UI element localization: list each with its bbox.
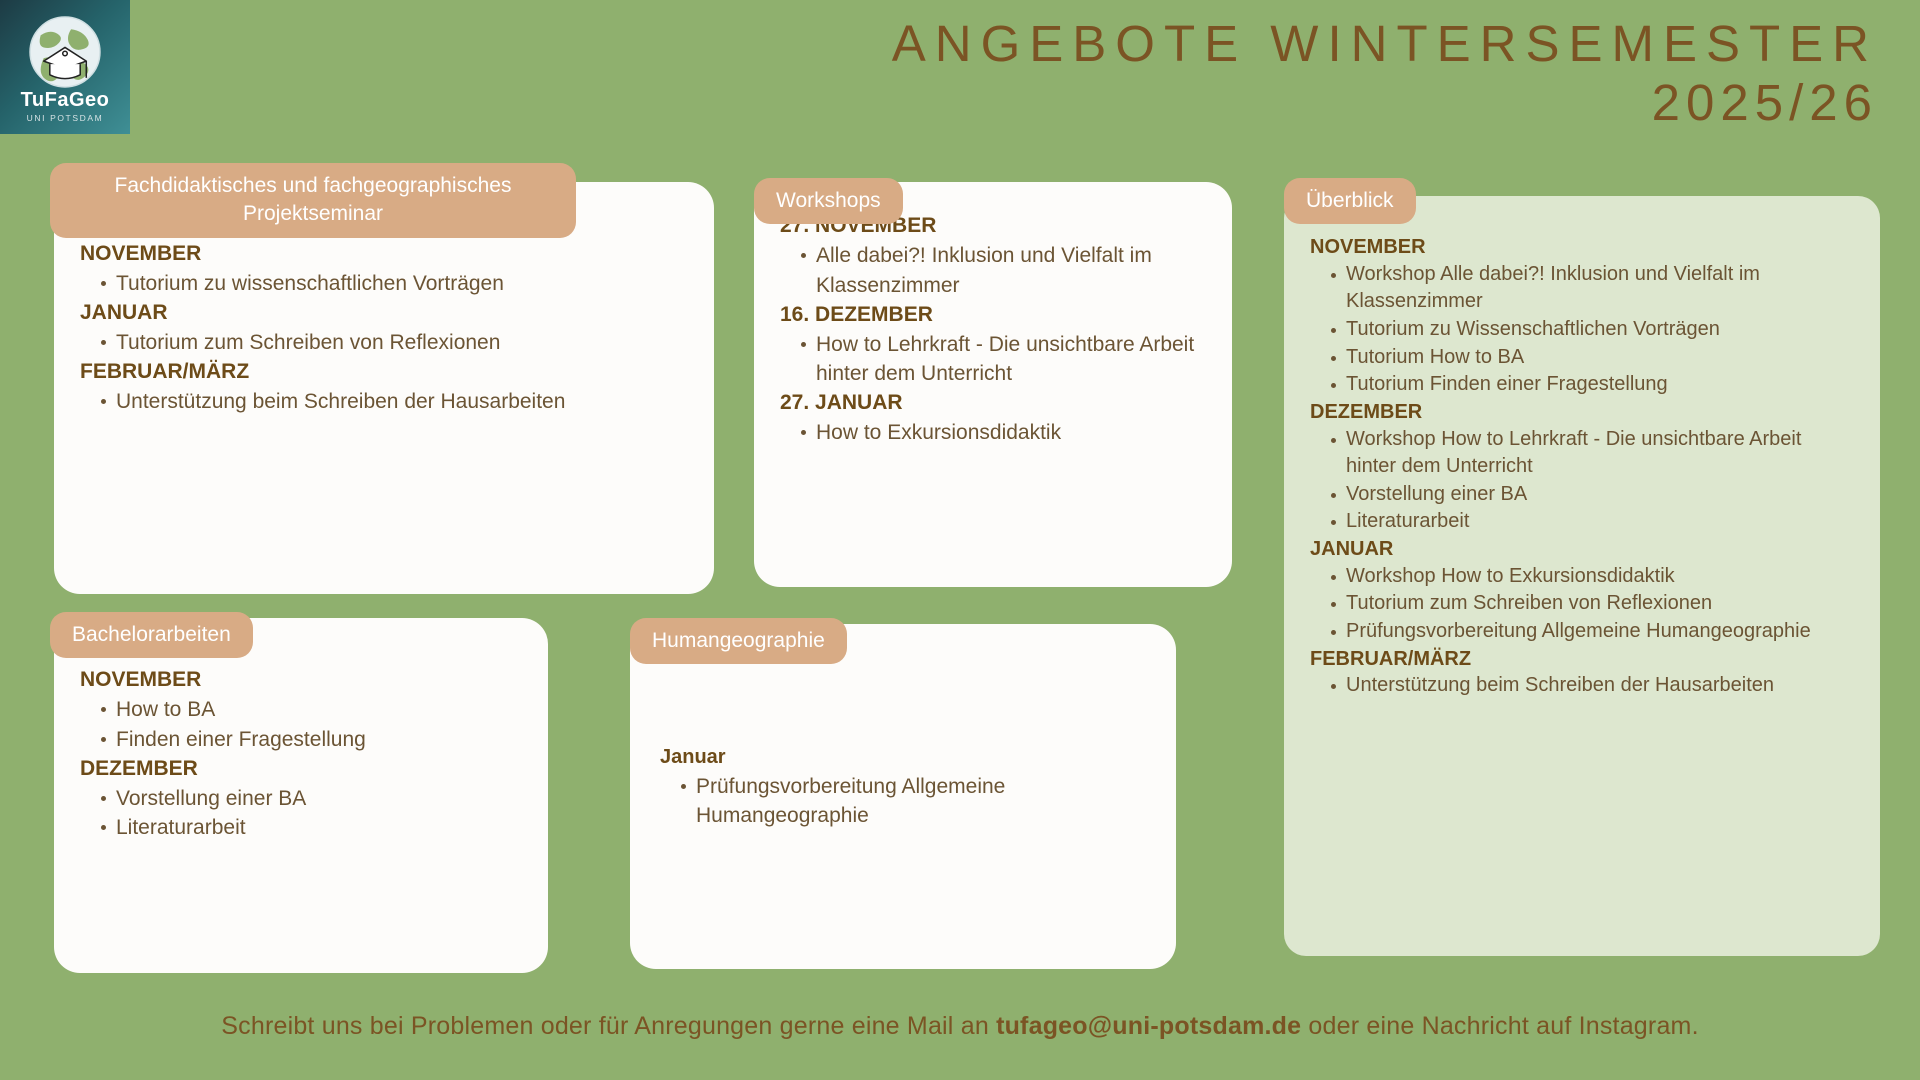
list-item: Vorstellung einer BA [80,784,522,814]
card-tag-bachelorarbeiten: Bachelorarbeiten [50,612,253,658]
month-heading: NOVEMBER [1310,234,1854,261]
month-heading: Januar [660,744,1146,772]
list-item: Tutorium zu Wissenschaftlichen Vorträgen [1310,316,1854,344]
card-humangeographie-body: JanuarPrüfungsvorbereitung Allgemeine Hu… [630,744,1176,831]
list-item: Vorstellung einer BA [1310,481,1854,509]
offer-list: Workshop Alle dabei?! Inklusion und Viel… [1310,261,1854,399]
card-workshops-body: 27. NOVEMBERAlle dabei?! Inklusion und V… [754,212,1232,448]
card-bachelorarbeiten: NOVEMBERHow to BAFinden einer Fragestell… [54,618,548,973]
card-tag-humangeographie: Humangeographie [630,618,847,664]
card-bachelorarbeiten-body: NOVEMBERHow to BAFinden einer Fragestell… [54,666,548,843]
footer-email: tufageo@uni-potsdam.de [996,1012,1301,1040]
list-item: Tutorium How to BA [1310,344,1854,372]
offer-list: Workshop How to Lehrkraft - Die unsichtb… [1310,426,1854,536]
list-item: Literaturarbeit [1310,508,1854,536]
card-tag-projektseminar: Fachdidaktisches und fachgeographisches … [50,163,576,238]
logo-subtitle-text: UNI POTSDAM [0,114,130,123]
logo-brand-text: TuFaGeo [0,90,130,110]
card-ueberblick-body: NOVEMBERWorkshop Alle dabei?! Inklusion … [1284,234,1880,700]
card-projektseminar: NOVEMBERTutorium zu wissenschaftlichen V… [54,182,714,594]
month-heading: JANUAR [1310,536,1854,563]
offer-list: Unterstützung beim Schreiben der Hausarb… [1310,672,1854,700]
footer-contact-note: Schreibt uns bei Problemen oder für Anre… [0,1012,1920,1041]
card-projektseminar-body: NOVEMBERTutorium zu wissenschaftlichen V… [54,240,714,416]
list-item: Tutorium zum Schreiben von Reflexionen [80,328,688,358]
list-item: Workshop How to Exkursionsdidaktik [1310,563,1854,591]
offer-list: How to Exkursionsdidaktik [780,418,1206,448]
month-heading: 16. DEZEMBER [780,301,1206,330]
month-heading: DEZEMBER [80,755,522,784]
offer-list: Workshop How to ExkursionsdidaktikTutori… [1310,563,1854,646]
list-item: Tutorium Finden einer Fragestellung [1310,371,1854,399]
list-item: Prüfungsvorbereitung Allgemeine Humangeo… [660,772,1146,832]
offer-list: Tutorium zum Schreiben von Reflexionen [80,328,688,358]
month-heading: DEZEMBER [1310,399,1854,426]
offer-list: Vorstellung einer BALiteraturarbeit [80,784,522,844]
offer-list: Unterstützung beim Schreiben der Hausarb… [80,387,688,417]
card-humangeographie: JanuarPrüfungsvorbereitung Allgemeine Hu… [630,624,1176,969]
footer-text-before: Schreibt uns bei Problemen oder für Anre… [221,1012,996,1040]
list-item: Literaturarbeit [80,813,522,843]
card-tag-ueberblick: Überblick [1284,178,1416,224]
list-item: Finden einer Fragestellung [80,725,522,755]
list-item: How to Exkursionsdidaktik [780,418,1206,448]
globe-graduation-cap-icon [27,14,103,90]
list-item: How to Lehrkraft - Die unsichtbare Arbei… [780,330,1206,390]
month-heading: JANUAR [80,299,688,328]
card-workshops: 27. NOVEMBERAlle dabei?! Inklusion und V… [754,182,1232,587]
footer-text-after: oder eine Nachricht auf Instagram. [1301,1012,1698,1040]
month-heading: FEBRUAR/MÄRZ [1310,646,1854,673]
tufageo-logo: TuFaGeo UNI POTSDAM [0,0,130,134]
list-item: Tutorium zum Schreiben von Reflexionen [1310,590,1854,618]
page-title-line1: ANGEBOTE WINTERSEMESTER [538,14,1878,73]
list-item: Tutorium zu wissenschaftlichen Vorträgen [80,269,688,299]
card-tag-workshops: Workshops [754,178,903,224]
offer-list: How to BAFinden einer Fragestellung [80,695,522,755]
list-item: Prüfungsvorbereitung Allgemeine Humangeo… [1310,618,1854,646]
list-item: Unterstützung beim Schreiben der Hausarb… [80,387,688,417]
page-title: ANGEBOTE WINTERSEMESTER 2025/26 [538,14,1878,132]
list-item: Workshop Alle dabei?! Inklusion und Viel… [1310,261,1854,316]
offer-list: Alle dabei?! Inklusion und Vielfalt im K… [780,241,1206,301]
list-item: Workshop How to Lehrkraft - Die unsichtb… [1310,426,1854,481]
month-heading: NOVEMBER [80,666,522,695]
card-ueberblick: NOVEMBERWorkshop Alle dabei?! Inklusion … [1284,196,1880,956]
list-item: How to BA [80,695,522,725]
offer-list: Prüfungsvorbereitung Allgemeine Humangeo… [660,772,1146,832]
month-heading: 27. JANUAR [780,389,1206,418]
offer-list: How to Lehrkraft - Die unsichtbare Arbei… [780,330,1206,390]
month-heading: FEBRUAR/MÄRZ [80,358,688,387]
offer-list: Tutorium zu wissenschaftlichen Vorträgen [80,269,688,299]
month-heading: NOVEMBER [80,240,688,269]
list-item: Unterstützung beim Schreiben der Hausarb… [1310,672,1854,700]
list-item: Alle dabei?! Inklusion und Vielfalt im K… [780,241,1206,301]
page-title-line2: 2025/26 [538,73,1878,132]
